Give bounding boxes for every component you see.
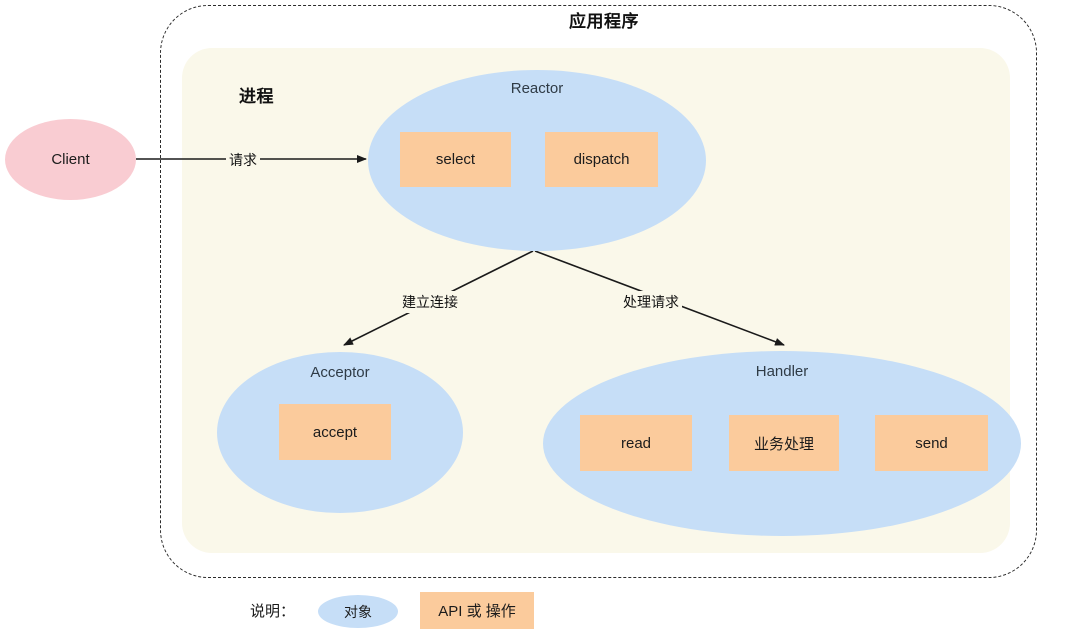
edge-label-request: 请求: [226, 149, 260, 171]
edge-label-handle-request: 处理请求: [620, 291, 682, 313]
client-label: Client: [5, 119, 136, 200]
legend-api-swatch: API 或 操作: [420, 592, 534, 629]
client-node[interactable]: Client: [5, 119, 136, 200]
operation-business-process[interactable]: 业务处理: [729, 415, 839, 471]
acceptor-label: Acceptor: [217, 364, 463, 381]
legend-caption: 说明：: [250, 600, 295, 621]
operation-read[interactable]: read: [580, 415, 692, 471]
operation-select[interactable]: select: [400, 132, 511, 187]
edge-label-establish-connection: 建立连接: [399, 291, 461, 313]
legend-object-swatch: 对象: [318, 595, 398, 628]
operation-dispatch[interactable]: dispatch: [545, 132, 658, 187]
reactor-label: Reactor: [368, 80, 706, 97]
handler-label: Handler: [543, 363, 1021, 380]
application-title: 应用程序: [498, 10, 710, 34]
legend-object-label: 对象: [318, 595, 398, 628]
process-label: 进程: [239, 82, 274, 107]
operation-accept[interactable]: accept: [279, 404, 391, 460]
operation-send[interactable]: send: [875, 415, 988, 471]
diagram-canvas: 应用程序 进程 Client Reactor select dispatch: [0, 0, 1080, 631]
